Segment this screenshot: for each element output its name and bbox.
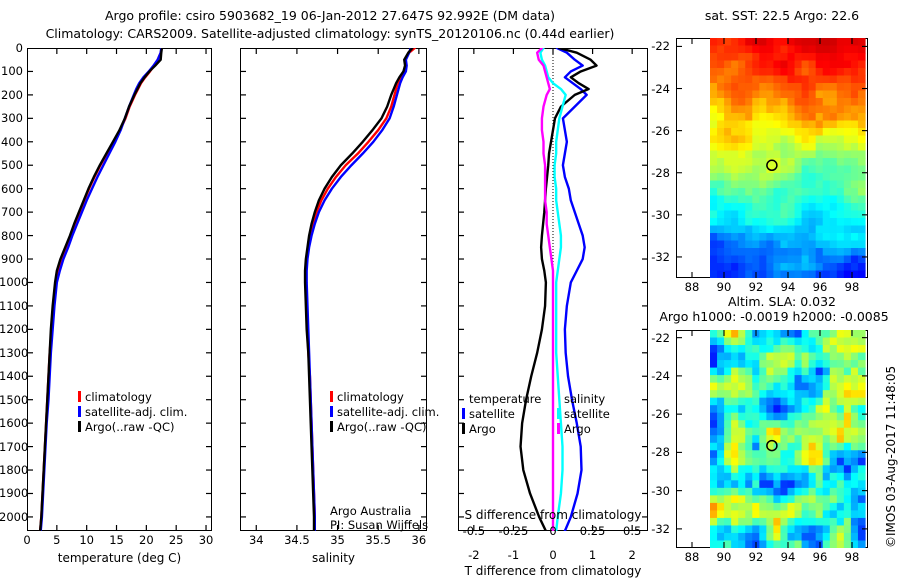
legend-label: Argo	[469, 422, 496, 436]
map-cell	[780, 151, 788, 159]
map-cell	[759, 375, 767, 383]
map-cell	[745, 158, 753, 166]
map-cell	[759, 113, 767, 121]
map-cell	[773, 398, 781, 406]
map-cell	[738, 473, 746, 481]
map-cell	[788, 106, 796, 114]
map-cell	[816, 248, 824, 256]
map-cell	[752, 226, 760, 234]
map-cell	[844, 488, 852, 496]
map-cell	[731, 233, 739, 241]
map-cell	[851, 435, 859, 443]
map-cell	[752, 203, 760, 211]
map-cell	[717, 136, 725, 144]
map-cell	[823, 525, 831, 533]
map-cell	[759, 226, 767, 234]
map-cell	[809, 345, 817, 353]
map-cell	[837, 248, 845, 256]
map-cell	[766, 38, 774, 46]
map-cell	[766, 345, 774, 353]
map-cell	[759, 83, 767, 91]
map-cell	[752, 76, 760, 84]
map-cell	[851, 338, 859, 346]
map-cell	[802, 450, 810, 458]
map-cell	[816, 458, 824, 466]
map-cell	[752, 53, 760, 61]
map-cell	[759, 533, 767, 541]
map-cell	[802, 76, 810, 84]
map-cell	[851, 211, 859, 219]
map-cell	[816, 143, 824, 151]
map-cell	[802, 488, 810, 496]
map-cell	[816, 465, 824, 473]
map-cell	[780, 383, 788, 391]
map-cell	[738, 121, 746, 129]
map-cell	[823, 488, 831, 496]
map-cell	[809, 106, 817, 114]
map-cell	[731, 450, 739, 458]
depth-tick-800: 800	[0, 229, 23, 243]
map-cell	[837, 181, 845, 189]
map-cell	[710, 121, 718, 129]
map-cell	[844, 413, 852, 421]
map-cell	[844, 106, 852, 114]
map-cell	[823, 46, 831, 54]
map-cell	[766, 181, 774, 189]
map-cell	[710, 61, 718, 69]
map-cell	[795, 91, 803, 99]
map-cell	[766, 353, 774, 361]
map-cell	[745, 226, 753, 234]
map-cell	[851, 525, 859, 533]
map-cell	[809, 98, 817, 106]
map-cell	[745, 218, 753, 226]
map-cell	[745, 510, 753, 518]
map-cell	[788, 166, 796, 174]
map-cell	[802, 435, 810, 443]
map-cell	[738, 61, 746, 69]
map-cell	[795, 143, 803, 151]
map-cell	[710, 420, 718, 428]
map-cell	[745, 241, 753, 249]
legend-label: Argo(..raw -QC)	[337, 420, 427, 434]
map-cell	[717, 121, 725, 129]
map-cell	[802, 443, 810, 451]
map-cell	[710, 450, 718, 458]
map-cell	[816, 360, 824, 368]
map-cell	[773, 518, 781, 526]
map-cell	[717, 510, 725, 518]
map-cell	[802, 218, 810, 226]
map-cell	[766, 330, 774, 338]
map-cell	[809, 488, 817, 496]
map-cell	[752, 46, 760, 54]
map-cell	[731, 173, 739, 181]
map-cell	[773, 450, 781, 458]
map-cell	[858, 458, 866, 466]
map-cell	[802, 503, 810, 511]
map-cell	[738, 241, 746, 249]
map-cell	[809, 76, 817, 84]
map-cell	[788, 136, 796, 144]
map-cell	[724, 383, 732, 391]
map-cell	[844, 203, 852, 211]
map-cell	[802, 68, 810, 76]
map-cell	[809, 375, 817, 383]
map-cell	[724, 173, 732, 181]
map-cell	[724, 61, 732, 69]
depth-tick-1100: 1100	[0, 299, 23, 313]
map-cell	[844, 256, 852, 264]
map-cell	[830, 360, 838, 368]
map-cell	[844, 271, 852, 279]
map-cell	[851, 458, 859, 466]
map-cell	[809, 166, 817, 174]
map-cell	[858, 181, 866, 189]
map-cell	[766, 405, 774, 413]
map-cell	[816, 420, 824, 428]
map-cell	[752, 495, 760, 503]
map-cell	[837, 151, 845, 159]
map-cell	[710, 465, 718, 473]
map-cell	[752, 435, 760, 443]
map-cell	[858, 121, 866, 129]
map-cell	[844, 540, 852, 548]
map-cell	[759, 203, 767, 211]
map-cell	[773, 136, 781, 144]
map-cell	[731, 458, 739, 466]
map-cell	[809, 181, 817, 189]
map-cell	[795, 76, 803, 84]
map-cell	[851, 488, 859, 496]
map-cell	[738, 420, 746, 428]
legend-swatch-icon	[557, 423, 560, 434]
map-cell	[766, 540, 774, 548]
map-cell	[816, 196, 824, 204]
map-cell	[773, 495, 781, 503]
map-cell	[766, 121, 774, 129]
map-cell	[795, 540, 803, 548]
page-title-line1: Argo profile: csiro 5903682_19 06-Jan-20…	[0, 8, 660, 23]
map-cell	[731, 495, 739, 503]
map-cell	[823, 533, 831, 541]
map-cell	[802, 38, 810, 46]
map-cell	[795, 443, 803, 451]
map-cell	[773, 375, 781, 383]
map-cell	[724, 233, 732, 241]
map-cell	[795, 241, 803, 249]
map-cell	[710, 525, 718, 533]
map-cell	[858, 353, 866, 361]
map-cell	[780, 458, 788, 466]
map-cell	[837, 128, 845, 136]
difference-s-axis-label: S difference from climatology	[458, 508, 648, 522]
map-cell	[759, 173, 767, 181]
map-cell	[780, 166, 788, 174]
legend-group-title-salinity: salinity	[564, 392, 648, 407]
map-cell	[858, 525, 866, 533]
map-cell	[731, 473, 739, 481]
map-cell	[809, 241, 817, 249]
sla-lat-tick: -28	[640, 445, 670, 459]
map-cell	[752, 465, 760, 473]
salinity-legend-item: satellite-adj. clim.	[330, 405, 439, 420]
map-cell	[752, 136, 760, 144]
map-cell	[717, 143, 725, 151]
map-cell	[844, 166, 852, 174]
map-cell	[710, 413, 718, 421]
map-cell	[830, 226, 838, 234]
temperature-axis-label: temperature (deg C)	[27, 551, 212, 565]
map-cell	[773, 390, 781, 398]
map-cell	[851, 166, 859, 174]
map-cell	[773, 76, 781, 84]
map-cell	[837, 233, 845, 241]
map-cell	[780, 203, 788, 211]
map-cell	[788, 405, 796, 413]
map-cell	[759, 211, 767, 219]
map-cell	[745, 68, 753, 76]
map-cell	[788, 188, 796, 196]
map-cell	[802, 458, 810, 466]
map-cell	[816, 241, 824, 249]
map-cell	[844, 98, 852, 106]
map-cell	[788, 413, 796, 421]
map-cell	[816, 83, 824, 91]
map-cell	[809, 226, 817, 234]
map-cell	[752, 413, 760, 421]
map-cell	[837, 413, 845, 421]
map-cell	[816, 518, 824, 526]
map-cell	[710, 196, 718, 204]
map-cell	[766, 226, 774, 234]
map-cell	[823, 83, 831, 91]
legend-label: climatology	[337, 390, 404, 404]
map-cell	[738, 256, 746, 264]
map-cell	[816, 405, 824, 413]
map-cell	[766, 98, 774, 106]
legend-swatch-icon	[330, 391, 333, 402]
map-cell	[731, 91, 739, 99]
map-cell	[766, 173, 774, 181]
map-cell	[851, 143, 859, 151]
map-cell	[710, 248, 718, 256]
map-cell	[844, 128, 852, 136]
map-cell	[802, 330, 810, 338]
map-cell	[823, 91, 831, 99]
map-cell	[759, 151, 767, 159]
map-cell	[731, 136, 739, 144]
map-cell	[745, 330, 753, 338]
map-cell	[851, 495, 859, 503]
map-cell	[816, 68, 824, 76]
map-cell	[773, 106, 781, 114]
map-cell	[731, 166, 739, 174]
map-cell	[823, 121, 831, 129]
map-cell	[780, 76, 788, 84]
map-cell	[795, 488, 803, 496]
map-cell	[809, 405, 817, 413]
map-cell	[802, 345, 810, 353]
map-cell	[830, 196, 838, 204]
map-cell	[809, 480, 817, 488]
map-cell	[731, 413, 739, 421]
map-cell	[851, 443, 859, 451]
map-cell	[738, 338, 746, 346]
map-cell	[844, 473, 852, 481]
map-cell	[752, 405, 760, 413]
map-cell	[809, 435, 817, 443]
depth-tick-1600: 1600	[0, 416, 23, 430]
legend-label: satellite	[564, 407, 610, 421]
map-cell	[759, 518, 767, 526]
map-cell	[823, 263, 831, 271]
map-cell	[759, 188, 767, 196]
map-cell	[710, 226, 718, 234]
map-cell	[759, 473, 767, 481]
map-cell	[710, 338, 718, 346]
map-cell	[738, 330, 746, 338]
map-cell	[773, 383, 781, 391]
map-cell	[773, 540, 781, 548]
map-cell	[837, 533, 845, 541]
map-cell	[830, 233, 838, 241]
map-cell	[788, 83, 796, 91]
map-cell	[745, 443, 753, 451]
map-cell	[809, 503, 817, 511]
map-cell	[780, 488, 788, 496]
map-cell	[752, 263, 760, 271]
salinity-legend: climatologysatellite-adj. clim.Argo(..ra…	[330, 390, 439, 435]
map-cell	[823, 435, 831, 443]
map-cell	[759, 53, 767, 61]
map-cell	[830, 540, 838, 548]
map-cell	[738, 218, 746, 226]
map-cell	[745, 495, 753, 503]
map-cell	[759, 61, 767, 69]
map-cell	[816, 488, 824, 496]
map-cell	[759, 398, 767, 406]
map-cell	[837, 450, 845, 458]
map-cell	[752, 173, 760, 181]
map-cell	[731, 188, 739, 196]
map-cell	[717, 173, 725, 181]
map-cell	[858, 510, 866, 518]
map-cell	[738, 136, 746, 144]
map-cell	[766, 503, 774, 511]
map-cell	[773, 338, 781, 346]
map-cell	[809, 128, 817, 136]
map-cell	[738, 488, 746, 496]
map-cell	[844, 188, 852, 196]
map-cell	[780, 540, 788, 548]
map-cell	[802, 151, 810, 159]
map-cell	[823, 241, 831, 249]
sla-map-title-line1: Altim. SLA: 0.032	[668, 294, 896, 309]
map-cell	[738, 113, 746, 121]
map-cell	[816, 218, 824, 226]
map-cell	[858, 68, 866, 76]
map-cell	[745, 83, 753, 91]
map-cell	[830, 495, 838, 503]
map-cell	[802, 166, 810, 174]
legend-swatch-icon	[462, 423, 465, 434]
map-cell	[816, 106, 824, 114]
map-cell	[745, 428, 753, 436]
map-cell	[738, 158, 746, 166]
map-cell	[816, 263, 824, 271]
map-cell	[851, 121, 859, 129]
map-cell	[717, 360, 725, 368]
map-cell	[724, 128, 732, 136]
map-cell	[745, 91, 753, 99]
map-cell	[851, 106, 859, 114]
map-cell	[837, 218, 845, 226]
depth-tick-1400: 1400	[0, 369, 23, 383]
map-cell	[802, 128, 810, 136]
map-cell	[780, 211, 788, 219]
map-cell	[738, 98, 746, 106]
map-cell	[717, 368, 725, 376]
map-cell	[738, 233, 746, 241]
map-cell	[816, 428, 824, 436]
map-cell	[823, 375, 831, 383]
map-cell	[710, 540, 718, 548]
map-cell	[766, 518, 774, 526]
map-cell	[717, 98, 725, 106]
map-cell	[823, 211, 831, 219]
map-cell	[773, 218, 781, 226]
map-cell	[738, 188, 746, 196]
map-cell	[752, 128, 760, 136]
map-cell	[802, 525, 810, 533]
difference-legend-item: Argo	[557, 422, 648, 437]
map-cell	[731, 360, 739, 368]
map-cell	[816, 211, 824, 219]
map-cell	[766, 375, 774, 383]
map-cell	[731, 263, 739, 271]
map-cell	[795, 368, 803, 376]
map-cell	[788, 158, 796, 166]
map-cell	[851, 353, 859, 361]
map-cell	[780, 473, 788, 481]
map-cell	[731, 83, 739, 91]
map-cell	[823, 405, 831, 413]
map-cell	[844, 143, 852, 151]
map-cell	[851, 98, 859, 106]
map-cell	[752, 218, 760, 226]
map-cell	[724, 398, 732, 406]
map-cell	[738, 143, 746, 151]
map-cell	[809, 188, 817, 196]
map-cell	[745, 450, 753, 458]
map-cell	[780, 256, 788, 264]
map-cell	[724, 203, 732, 211]
map-cell	[780, 173, 788, 181]
map-cell	[745, 248, 753, 256]
map-cell	[788, 503, 796, 511]
map-cell	[773, 226, 781, 234]
map-cell	[745, 203, 753, 211]
map-cell	[752, 241, 760, 249]
map-cell	[731, 226, 739, 234]
map-cell	[710, 390, 718, 398]
map-cell	[766, 413, 774, 421]
map-cell	[738, 368, 746, 376]
series-argo-raw-qc-	[40, 48, 162, 531]
map-cell	[837, 375, 845, 383]
depth-tick-700: 700	[0, 205, 23, 219]
